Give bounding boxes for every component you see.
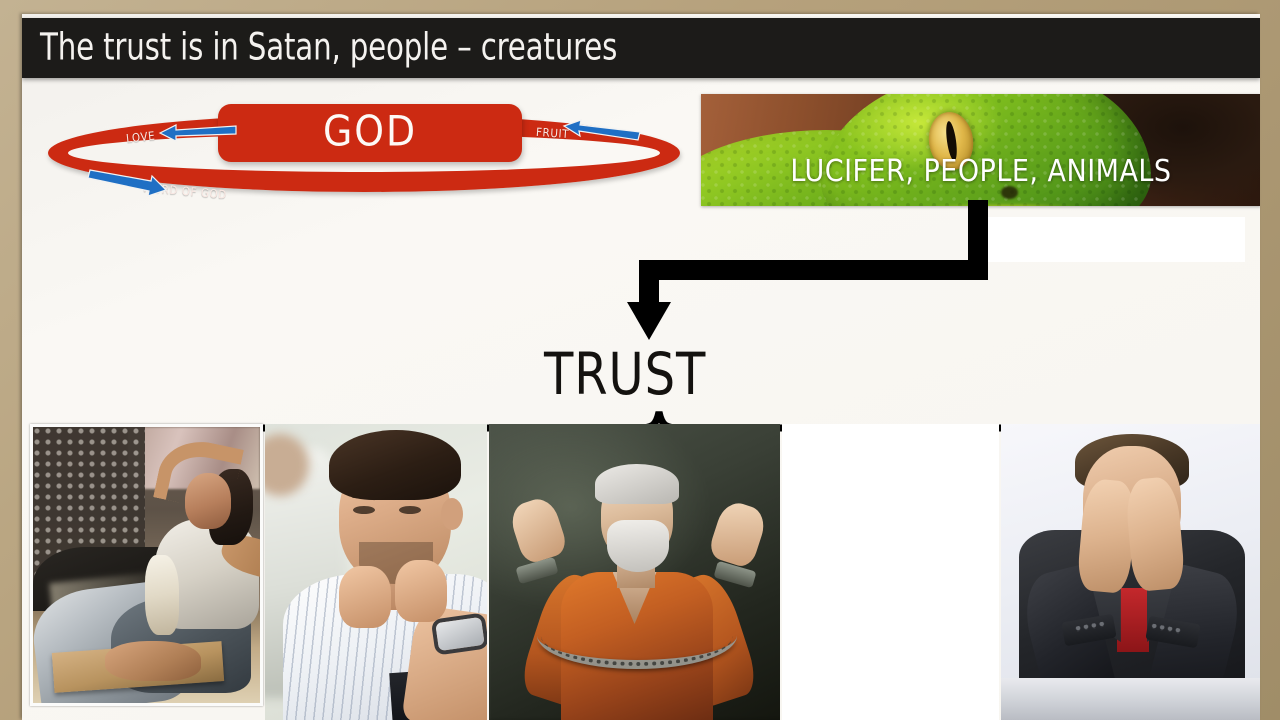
photo-pensive-man-in-striped-shirt[interactable] (265, 424, 486, 720)
photo3-grey-hair (595, 464, 679, 504)
photo5-red-tie (1117, 588, 1149, 652)
presentation-frame: The trust is in Satan, people – creature… (0, 0, 1280, 720)
photo-strip (30, 424, 1260, 720)
photo2-hand-right (395, 560, 447, 622)
photo2-hair (329, 430, 461, 500)
photo1-bare-feet (105, 641, 201, 681)
photo3-chain-links (541, 606, 733, 666)
photo-chained-man-hands-raised-painting[interactable] (489, 424, 780, 720)
photo3-white-beard (607, 520, 669, 572)
photo-homeless-man-sitting-painting[interactable] (30, 424, 263, 706)
photo-vector-face-with-sunglasses[interactable] (782, 424, 999, 720)
slide-canvas: The trust is in Satan, people – creature… (22, 14, 1260, 720)
elbow-arrow-snake-to-trust (22, 14, 1260, 354)
photo2-hand-left (339, 566, 391, 628)
photo1-paper-bag (145, 555, 179, 635)
photo5-table (1001, 678, 1260, 720)
photo-man-covering-face-with-hands[interactable] (1001, 424, 1260, 720)
photo4-background (782, 424, 999, 720)
